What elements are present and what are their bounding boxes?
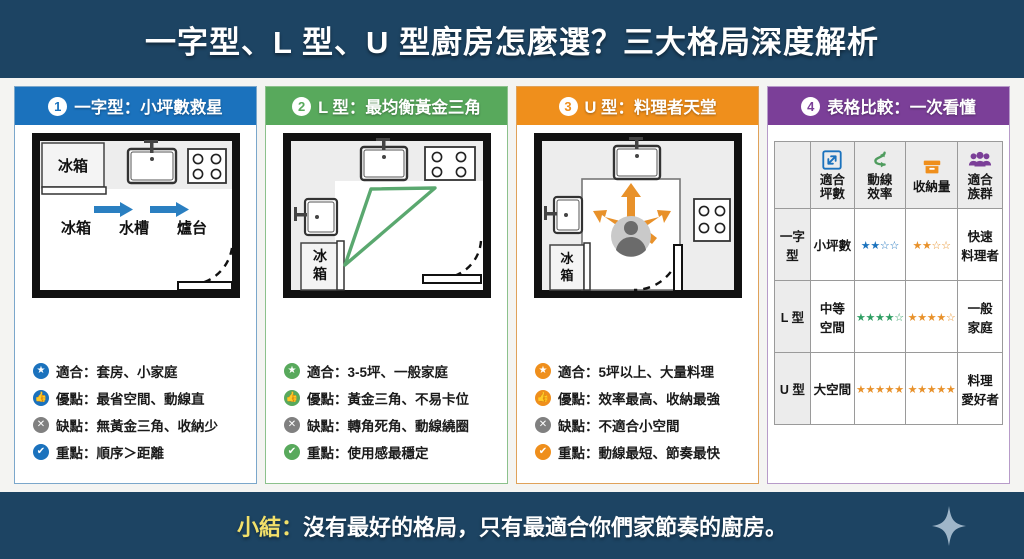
bullets-3: ★ 適合：5坪以上、大量料理 👍 優點：效率最高、收納最強 ✕ 缺點：不適合小空… [523, 354, 752, 477]
table-body: 一字型 小坪數 ★★☆☆ ★★☆☆ 快速料理者 L 型 中等空間 ★★★★☆ ★… [775, 209, 1003, 425]
people-group-icon [968, 149, 992, 171]
card-body-1: 冰箱 冰箱 水槽 爐台 [15, 125, 256, 483]
column-header-flow: 動線效率 [854, 142, 905, 209]
card-header-3: 3 U 型：料理者天堂 [517, 87, 758, 125]
card-comparison-table: 4 表格比較：一次看懂 [767, 86, 1010, 484]
bullet-label: 重點：使用感最穩定 [307, 442, 429, 462]
table-header-row: 適合坪數 動線效率 [775, 142, 1003, 209]
card-header-1: 1 一字型：小坪數救星 [15, 87, 256, 125]
thumbs-up-icon: 👍 [535, 390, 551, 406]
svg-text:冰: 冰 [560, 251, 574, 266]
card-header-4: 4 表格比較：一次看懂 [768, 87, 1009, 125]
table-corner-cell [775, 142, 811, 209]
table-row: 一字型 小坪數 ★★☆☆ ★★☆☆ 快速料理者 [775, 209, 1003, 281]
card-title-3: U 型：料理者天堂 [585, 94, 717, 118]
check-icon: ✔ [535, 444, 551, 460]
bullet-label: 適合：套房、小家庭 [56, 361, 178, 381]
star-rating: ★★★★★ [856, 384, 904, 396]
bullet-item: ★ 適合：套房、小家庭 [33, 361, 244, 381]
card-number-1: 1 [48, 97, 67, 116]
bullet-label: 優點：最省空間、動線直 [56, 388, 205, 408]
cell-audience: 快速料理者 [958, 209, 1003, 281]
cell-area: 小坪數 [810, 209, 854, 281]
column-header-audience-label: 適合族群 [959, 173, 1001, 201]
card-body-4: 適合坪數 動線效率 [768, 125, 1009, 483]
kitchen-plan-l-shape: 冰 箱 [283, 133, 491, 298]
cell-flow-stars: ★★★★☆ [854, 281, 905, 353]
card-l-shape: 2 L 型：最均衡黃金三角 [265, 86, 508, 484]
svg-text:冰箱: 冰箱 [60, 219, 90, 237]
star-rating: ★★★★☆ [856, 312, 904, 324]
column-header-area: 適合坪數 [810, 142, 854, 209]
bullets-1: ★ 適合：套房、小家庭 👍 優點：最省空間、動線直 ✕ 缺點：無黃金三角、收納少… [21, 354, 250, 477]
bullet-item: ✕ 缺點：轉角死角、動線繞圈 [284, 415, 495, 435]
card-header-2: 2 L 型：最均衡黃金三角 [266, 87, 507, 125]
column-header-audience: 適合族群 [958, 142, 1003, 209]
bullet-label: 缺點：無黃金三角、收納少 [56, 415, 218, 435]
cell-area: 大空間 [810, 353, 854, 425]
cell-storage-stars: ★★★★★ [905, 353, 957, 425]
bullet-label: 優點：黃金三角、不易卡位 [307, 388, 469, 408]
footer-body: 沒有最好的格局，只有最適合你們家節奏的廚房。 [303, 515, 787, 540]
star-rating: ★★☆☆ [861, 240, 899, 252]
x-icon: ✕ [284, 417, 300, 433]
svg-text:爐台: 爐台 [176, 219, 206, 237]
column-header-area-label: 適合坪數 [812, 173, 853, 201]
x-icon: ✕ [535, 417, 551, 433]
cell-audience: 一般家庭 [958, 281, 1003, 353]
card-title-4: 表格比較：一次看懂 [827, 94, 976, 118]
svg-text:冰: 冰 [313, 248, 328, 264]
card-title-2: L 型：最均衡黃金三角 [318, 94, 481, 118]
page-header: 一字型、L 型、U 型廚房怎麼選？三大格局深度解析 [0, 0, 1024, 78]
bullet-item: ✔ 重點：動線最短、節奏最快 [535, 442, 746, 462]
card-body-2: 冰 箱 ★ 適合：3-5坪、一般家庭 👍 優點：黃金三角、不易卡位 [266, 125, 507, 483]
column-header-flow-label: 動線效率 [856, 173, 904, 201]
bullets-2: ★ 適合：3-5坪、一般家庭 👍 優點：黃金三角、不易卡位 ✕ 缺點：轉角死角、… [272, 354, 501, 477]
card-body-3: 冰 箱 ★ 適合 [517, 125, 758, 483]
svg-text:水槽: 水槽 [118, 219, 148, 237]
card-number-3: 3 [559, 97, 578, 116]
expand-arrows-icon [821, 149, 843, 171]
svg-text:冰箱: 冰箱 [57, 157, 87, 175]
table-row: U 型 大空間 ★★★★★ ★★★★★ 料理愛好者 [775, 353, 1003, 425]
sparkle-icon [932, 506, 966, 546]
kitchen-plan-u-shape: 冰 箱 [534, 133, 742, 298]
bullet-label: 適合：3-5坪、一般家庭 [307, 361, 448, 381]
bullet-item: ✕ 缺點：無黃金三角、收納少 [33, 415, 244, 435]
route-arrow-icon [869, 149, 891, 171]
bullet-item: ★ 適合：5坪以上、大量料理 [535, 361, 746, 381]
storage-box-icon [921, 156, 943, 178]
cell-flow-stars: ★★★★★ [854, 353, 905, 425]
star-icon: ★ [535, 363, 551, 379]
cell-flow-stars: ★★☆☆ [854, 209, 905, 281]
bullet-item: ★ 適合：3-5坪、一般家庭 [284, 361, 495, 381]
comparison-table: 適合坪數 動線效率 [774, 141, 1003, 425]
bullet-label: 優點：效率最高、收納最強 [558, 388, 720, 408]
cell-storage-stars: ★★★★☆ [905, 281, 957, 353]
cell-area: 中等空間 [810, 281, 854, 353]
star-icon: ★ [284, 363, 300, 379]
kitchen-plan-single-wall: 冰箱 冰箱 水槽 爐台 [32, 133, 240, 298]
star-rating: ★★★★☆ [908, 312, 956, 324]
svg-text:箱: 箱 [313, 266, 327, 282]
check-icon: ✔ [33, 444, 49, 460]
card-u-shape: 3 U 型：料理者天堂 [516, 86, 759, 484]
table-row: L 型 中等空間 ★★★★☆ ★★★★☆ 一般家庭 [775, 281, 1003, 353]
thumbs-up-icon: 👍 [33, 390, 49, 406]
check-icon: ✔ [284, 444, 300, 460]
page-title: 一字型、L 型、U 型廚房怎麼選？三大格局深度解析 [145, 17, 879, 62]
page-footer: 小結：沒有最好的格局，只有最適合你們家節奏的廚房。 [0, 492, 1024, 559]
column-header-storage-label: 收納量 [907, 180, 956, 194]
bullet-item: ✕ 缺點：不適合小空間 [535, 415, 746, 435]
bullet-item: 👍 優點：效率最高、收納最強 [535, 388, 746, 408]
star-rating: ★★☆☆ [912, 240, 950, 252]
row-label: L 型 [775, 281, 811, 353]
bullet-item: 👍 優點：最省空間、動線直 [33, 388, 244, 408]
footer-text: 小結：沒有最好的格局，只有最適合你們家節奏的廚房。 [237, 510, 787, 542]
infographic-page: 一字型、L 型、U 型廚房怎麼選？三大格局深度解析 1 一字型：小坪數救星 冰箱 [0, 0, 1024, 559]
cell-audience: 料理愛好者 [958, 353, 1003, 425]
bullet-label: 適合：5坪以上、大量料理 [558, 361, 714, 381]
thumbs-up-icon: 👍 [284, 390, 300, 406]
svg-text:箱: 箱 [560, 268, 573, 283]
card-number-4: 4 [801, 97, 820, 116]
bullet-label: 缺點：轉角死角、動線繞圈 [307, 415, 469, 435]
card-single-wall: 1 一字型：小坪數救星 冰箱 [14, 86, 257, 484]
footer-highlight: 小結： [237, 515, 303, 540]
cell-storage-stars: ★★☆☆ [905, 209, 957, 281]
bullet-label: 重點：順序＞距離 [56, 442, 164, 462]
x-icon: ✕ [33, 417, 49, 433]
cards-row: 1 一字型：小坪數救星 冰箱 [0, 78, 1024, 484]
bullet-item: 👍 優點：黃金三角、不易卡位 [284, 388, 495, 408]
bullet-label: 缺點：不適合小空間 [558, 415, 680, 435]
star-icon: ★ [33, 363, 49, 379]
bullet-item: ✔ 重點：使用感最穩定 [284, 442, 495, 462]
card-title-1: 一字型：小坪數救星 [74, 94, 223, 118]
column-header-storage: 收納量 [905, 142, 957, 209]
row-label: U 型 [775, 353, 811, 425]
bullet-item: ✔ 重點：順序＞距離 [33, 442, 244, 462]
card-number-2: 2 [292, 97, 311, 116]
bullet-label: 重點：動線最短、節奏最快 [558, 442, 720, 462]
star-rating: ★★★★★ [908, 384, 956, 396]
row-label: 一字型 [775, 209, 811, 281]
